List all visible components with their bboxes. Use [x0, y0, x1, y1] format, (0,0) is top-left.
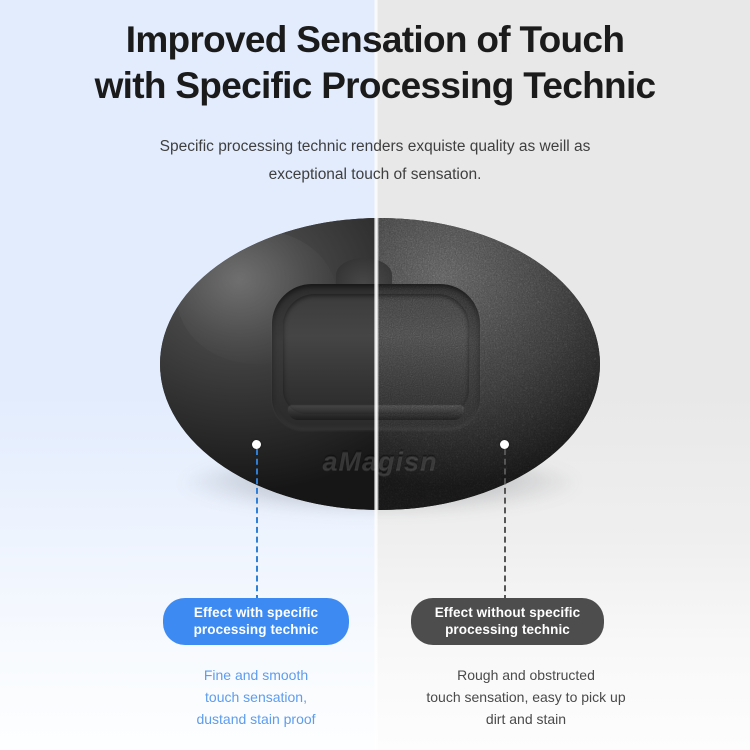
- mouse-body: aMagisn: [160, 218, 600, 510]
- page-title-line-1: Improved Sensation of Touch: [0, 17, 750, 63]
- badge-right-line-1: Effect without specific: [411, 604, 604, 621]
- caption-right: Rough and obstructed touch sensation, ea…: [386, 664, 666, 730]
- caption-left-line-3: dustand stain proof: [146, 708, 366, 730]
- badge-left-line-2: processing technic: [163, 621, 349, 638]
- badge-effect-without-technic: Effect without specific processing techn…: [411, 598, 604, 645]
- caption-right-line-3: dirt and stain: [386, 708, 666, 730]
- caption-right-line-1: Rough and obstructed: [386, 664, 666, 686]
- page-title-line-2: with Specific Processing Technic: [0, 63, 750, 109]
- page-title: Improved Sensation of Touch with Specifi…: [0, 0, 750, 109]
- infographic-canvas: Improved Sensation of Touch with Specifi…: [0, 0, 750, 750]
- badge-right-line-2: processing technic: [411, 621, 604, 638]
- page-subtitle-line-1: Specific processing technic renders exqu…: [0, 133, 750, 161]
- header-block: Improved Sensation of Touch with Specifi…: [0, 0, 750, 189]
- caption-left: Fine and smooth touch sensation, dustand…: [146, 664, 366, 730]
- caption-left-line-1: Fine and smooth: [146, 664, 366, 686]
- panel-rough-texture: [376, 284, 480, 430]
- badge-effect-with-technic: Effect with specific processing technic: [163, 598, 349, 645]
- page-subtitle: Specific processing technic renders exqu…: [0, 109, 750, 189]
- page-subtitle-line-2: exceptional touch of sensation.: [0, 161, 750, 189]
- callout-line-right: [504, 449, 506, 601]
- caption-left-line-2: touch sensation,: [146, 686, 366, 708]
- caption-right-line-2: touch sensation, easy to pick up: [386, 686, 666, 708]
- callout-dot-right: [500, 440, 509, 449]
- callout-line-left: [256, 449, 258, 601]
- callout-dot-left: [252, 440, 261, 449]
- product-image-mouse: aMagisn: [160, 218, 600, 514]
- badge-left-line-1: Effect with specific: [163, 604, 349, 621]
